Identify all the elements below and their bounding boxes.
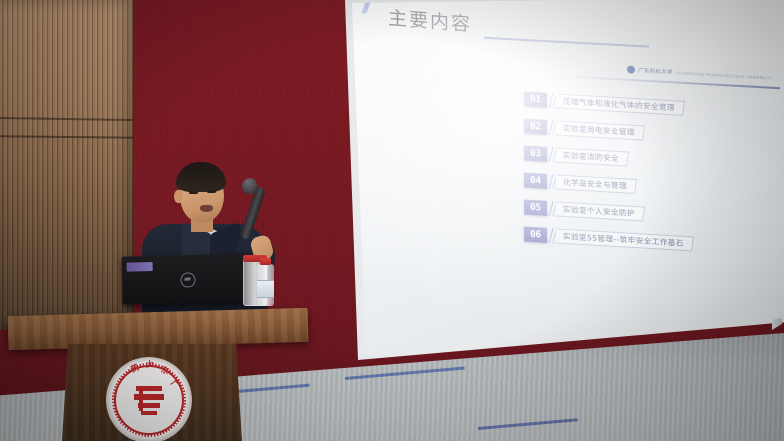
list-item: 06 实验室5S管理--筑牢安全工作基石 xyxy=(524,226,693,251)
list-item: 02 实验室用电安全管理 xyxy=(524,118,693,143)
speaker-eye-right xyxy=(207,190,216,193)
list-item-number: 06 xyxy=(524,226,547,242)
list-item-label: 实验室5S管理--筑牢安全工作基石 xyxy=(563,231,684,249)
speaker-brow-left xyxy=(188,186,201,189)
list-item-label: 实验室用电安全管理 xyxy=(563,123,635,138)
bottle-label xyxy=(257,280,274,298)
dell-logo-icon xyxy=(180,272,195,287)
brand-name-en: GUANGDONG PHARMACEUTICAL UNIVERSITY xyxy=(675,70,772,81)
speaker-mouth xyxy=(200,205,213,212)
slide-content-list: 01 压缩气体和液化气体的安全管理 02 实验室用电安全管理 03 xyxy=(524,90,693,265)
slide-title-underline xyxy=(484,37,649,48)
list-item-number: 05 xyxy=(524,199,547,215)
list-item-label-box: 化学品安全与管理 xyxy=(555,174,637,194)
brand-mark-icon xyxy=(626,65,634,73)
projection-screen: 主要内容 广东药科大学 GUANGDONG PHARMACEUTICAL UNI… xyxy=(346,0,784,354)
lecture-hall-photo: 主要内容 广东药科大学 GUANGDONG PHARMACEUTICAL UNI… xyxy=(0,0,784,441)
bottle-cap xyxy=(260,258,271,265)
list-item-label-box: 实验室5S管理--筑牢安全工作基石 xyxy=(555,228,694,251)
wood-slat-wall-panel xyxy=(0,0,133,330)
emblem-char: 东 xyxy=(159,364,170,377)
speaker-brow-right xyxy=(206,185,219,188)
list-item-label: 压缩气体和液化气体的安全管理 xyxy=(563,96,675,114)
list-item: 03 实验室消防安全 xyxy=(524,145,693,170)
emblem-char: 药 xyxy=(129,362,141,375)
laptop xyxy=(121,253,254,304)
list-item: 05 实验室个人安全防护 xyxy=(524,199,693,224)
list-item-label: 实验室个人安全防护 xyxy=(563,204,635,219)
list-item-number: 03 xyxy=(524,145,547,161)
list-item-number: 02 xyxy=(524,118,547,134)
list-item-label: 实验室消防安全 xyxy=(563,150,619,164)
list-item: 04 化学品安全与管理 xyxy=(524,172,693,197)
emblem-text-ring: 药 大 东 广 xyxy=(106,357,192,441)
list-item-number: 04 xyxy=(524,172,547,188)
emblem-char: 广 xyxy=(168,378,181,391)
list-item-label: 化学品安全与管理 xyxy=(563,177,627,192)
list-item-label-box: 实验室用电安全管理 xyxy=(555,120,645,140)
slide-title: 主要内容 xyxy=(388,3,472,37)
list-item-number: 01 xyxy=(524,91,547,107)
speaker-ear xyxy=(174,190,182,203)
water-bottle xyxy=(257,264,274,306)
laptop-sticker xyxy=(127,262,153,272)
speaker-eye-left xyxy=(189,191,198,194)
list-item: 01 压缩气体和液化气体的安全管理 xyxy=(524,91,693,116)
brand-name-cn: 广东药科大学 xyxy=(637,66,672,76)
list-item-label-box: 压缩气体和液化气体的安全管理 xyxy=(555,93,685,115)
list-item-label-box: 实验室消防安全 xyxy=(555,147,629,166)
slide-surface: 主要内容 广东药科大学 GUANGDONG PHARMACEUTICAL UNI… xyxy=(346,0,784,354)
speaker-hair xyxy=(176,162,226,192)
emblem-char: 大 xyxy=(145,359,154,371)
university-emblem: 药 大 东 广 xyxy=(106,357,192,441)
list-item-label-box: 实验室个人安全防护 xyxy=(555,201,645,221)
